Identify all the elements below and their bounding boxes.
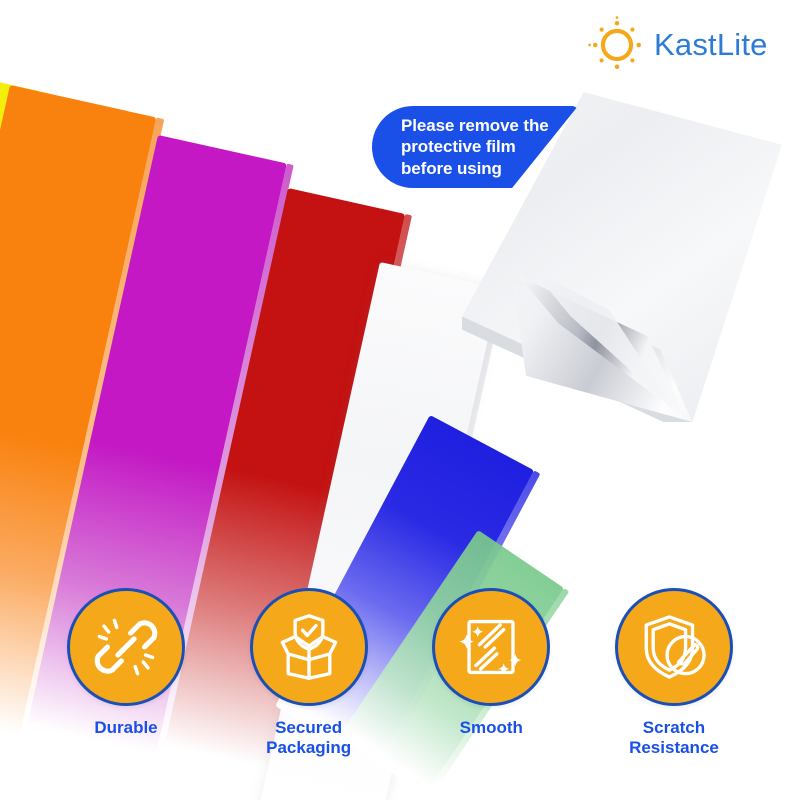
brand-logo: KastLite [588, 16, 768, 74]
brand-wordmark: KastLite [654, 27, 768, 63]
feature-badge [67, 588, 185, 706]
sparkling-panel-icon [454, 610, 528, 684]
feature-badge [250, 588, 368, 706]
product-image-canvas: Please remove the protective film before… [0, 0, 800, 800]
feature-secured-packaging: Secured Packaging [229, 588, 389, 788]
feature-badge [615, 588, 733, 706]
shield-blade-icon [637, 610, 711, 684]
feature-label: Durable [94, 718, 157, 738]
feature-label: Secured Packaging [266, 718, 351, 758]
sun-icon [588, 16, 646, 74]
shield-box-icon [272, 610, 346, 684]
feature-label: Smooth [460, 718, 523, 738]
feature-list: Durable Secured Packaging [0, 588, 800, 788]
feature-scratch-resistance: Scratch Resistance [594, 588, 754, 788]
feature-smooth: Smooth [411, 588, 571, 788]
feature-durable: Durable [46, 588, 206, 788]
feature-label: Scratch Resistance [629, 718, 719, 758]
callout-text: Please remove the protective film before… [372, 115, 549, 180]
chain-link-icon [89, 610, 163, 684]
feature-badge [432, 588, 550, 706]
